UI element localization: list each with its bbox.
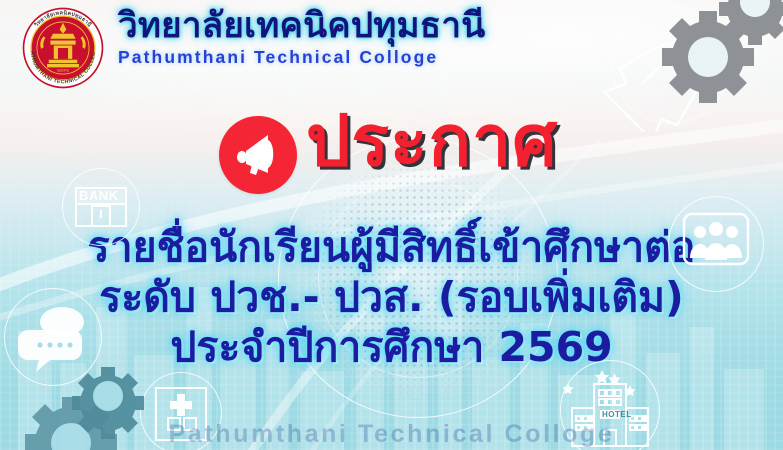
headline-line-3: ประจำปีการศึกษา 2569 xyxy=(0,322,783,372)
college-name-english: Pathumthani Technical Colloge xyxy=(118,47,485,68)
announcement-poster: ๒๔๙๖ วิทยาลัยเทคนิคปทุมธานี PATHUMTHANI … xyxy=(0,0,783,450)
svg-text:๒๔๙๖: ๒๔๙๖ xyxy=(57,68,69,73)
header: ๒๔๙๖ วิทยาลัยเทคนิคปทุมธานี PATHUMTHANI … xyxy=(0,0,783,96)
headline-block: รายชื่อนักเรียนผู้มีสิทธิ์เข้าศึกษาต่อ ร… xyxy=(0,222,783,372)
announcement-label: ประกาศ xyxy=(306,106,558,176)
college-seal-logo: ๒๔๙๖ วิทยาลัยเทคนิคปทุมธานี PATHUMTHANI … xyxy=(21,6,105,90)
footer-watermark: Pathumthani Technical Colloge xyxy=(0,420,783,449)
megaphone-icon xyxy=(219,116,297,194)
announcement-row: ประกาศ xyxy=(0,112,783,194)
header-text-block: วิทยาลัยเทคนิคปทุมธานี Pathumthani Techn… xyxy=(118,8,485,68)
headline-line-1: รายชื่อนักเรียนผู้มีสิทธิ์เข้าศึกษาต่อ xyxy=(0,222,783,272)
college-name-thai: วิทยาลัยเทคนิคปทุมธานี xyxy=(118,8,485,45)
headline-line-2: ระดับ ปวช.- ปวส. (รอบเพิ่มเติม) xyxy=(0,272,783,322)
hotel-label: HOTEL xyxy=(602,410,632,419)
